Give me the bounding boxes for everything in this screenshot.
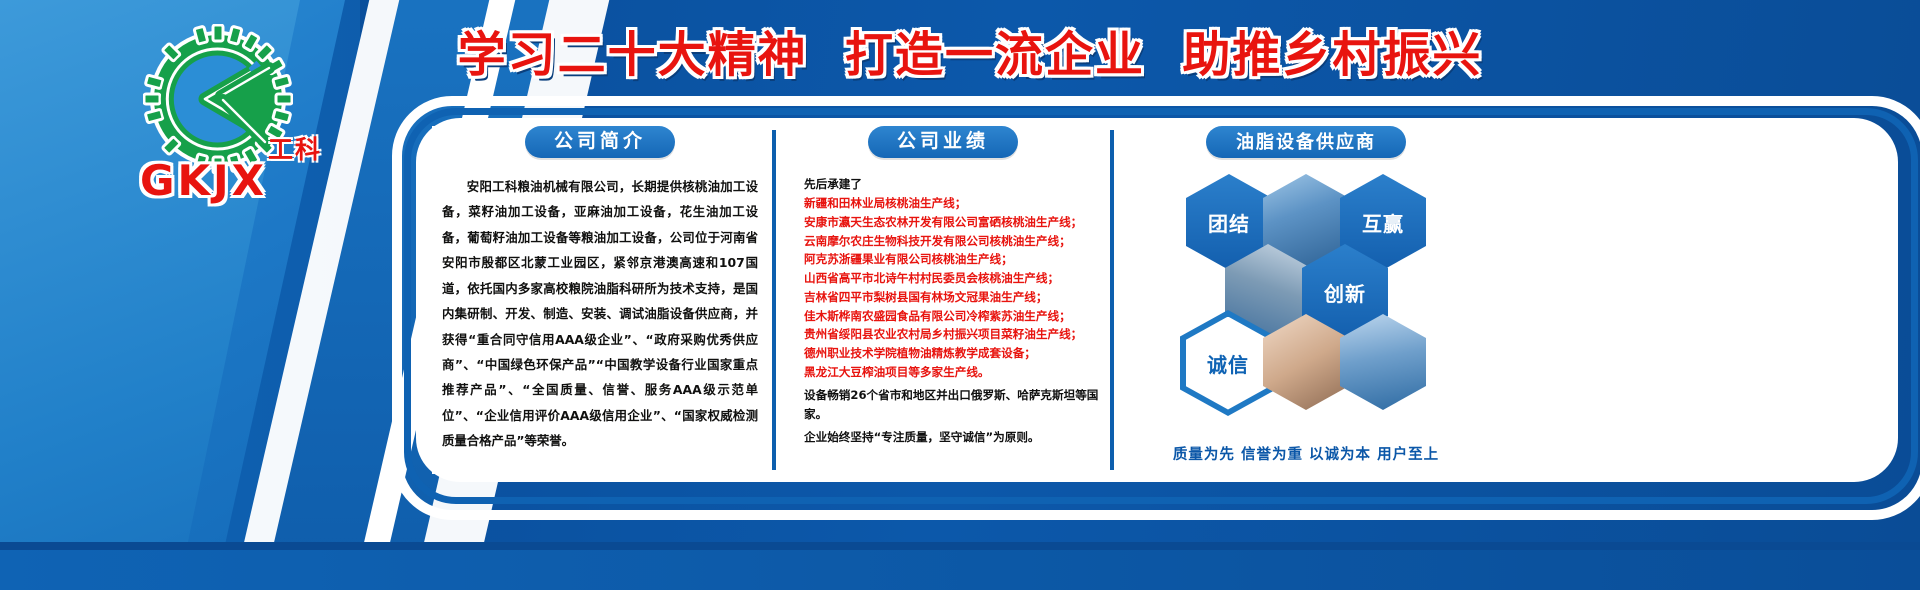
list-item: 德州职业技术学院植物油精炼教学成套设备；	[804, 344, 1104, 363]
achievements-footer-1: 设备畅销26个省市和地区并出口俄罗斯、哈萨克斯坦等国家。	[804, 386, 1104, 424]
panel-title-supplier: 油脂设备供应商	[1206, 126, 1406, 158]
achievements-footer-2: 企业始终坚持“专注质量，坚守诚信”为原则。	[804, 428, 1104, 447]
list-item: 安康市瀛天生态农林开发有限公司富硒核桃油生产线；	[804, 213, 1104, 232]
achievements-intro: 先后承建了	[804, 176, 1104, 192]
achievements-list: 新疆和田林业局核桃油生产线； 安康市瀛天生态农林开发有限公司富硒核桃油生产线； …	[804, 194, 1104, 382]
supplier-slogan: 质量为先 信誉为重 以诚为本 用户至上	[1120, 443, 1492, 464]
list-item: 吉林省四平市梨树县国有林场文冠果油生产线；	[804, 288, 1104, 307]
logo-text-chinese: 工科	[268, 130, 322, 166]
company-intro-text: 安阳工科粮油机械有限公司，长期提供核桃油加工设备，菜籽油加工设备，亚麻油加工设备…	[442, 174, 758, 454]
page-title: 学习二十大精神 打造一流企业 助推乡村振兴	[420, 14, 1520, 86]
panel-title-achievements: 公司业绩	[868, 126, 1018, 158]
logo-text-english: GKJX	[140, 156, 267, 205]
poster-canvas: 工科 GKJX 学习二十大精神 打造一流企业 助推乡村振兴 公司简介 安阳工科粮…	[0, 0, 1920, 590]
panel-title-company-intro: 公司简介	[525, 126, 675, 158]
bottom-strip	[0, 550, 1920, 590]
list-item: 佳木斯桦南农盛园食品有限公司冷榨紫苏油生产线；	[804, 307, 1104, 326]
bottom-divider	[0, 542, 1920, 550]
panel-divider-2	[1110, 130, 1114, 470]
panel-company-intro: 公司简介 安阳工科粮油机械有限公司，长期提供核桃油加工设备，菜籽油加工设备，亚麻…	[432, 126, 768, 474]
panel-company-achievements: 公司业绩 先后承建了 新疆和田林业局核桃油生产线； 安康市瀛天生态农林开发有限公…	[782, 126, 1104, 474]
panel-oil-equipment-supplier: 油脂设备供应商 团结 互赢 创新 诚信 质量为先 信誉为重 以诚为本 用户至上	[1120, 126, 1492, 474]
list-item: 新疆和田林业局核桃油生产线；	[804, 194, 1104, 213]
panel-divider-1	[772, 130, 776, 470]
list-item: 贵州省绥阳县农业农村局乡村振兴项目菜籽油生产线；	[804, 325, 1104, 344]
hex-chengxin-label: 诚信	[1186, 317, 1270, 410]
hexagon-cluster: 团结 互赢 创新 诚信	[1120, 168, 1492, 398]
list-item: 黑龙江大豆榨油项目等多家生产线。	[804, 363, 1104, 382]
list-item: 云南摩尔农庄生物科技开发有限公司核桃油生产线；	[804, 232, 1104, 251]
list-item: 山西省高平市北诗午村村民委员会核桃油生产线；	[804, 269, 1104, 288]
header-band: 学习二十大精神 打造一流企业 助推乡村振兴	[0, 0, 1920, 98]
list-item: 阿克苏浙疆果业有限公司核桃油生产线；	[804, 250, 1104, 269]
